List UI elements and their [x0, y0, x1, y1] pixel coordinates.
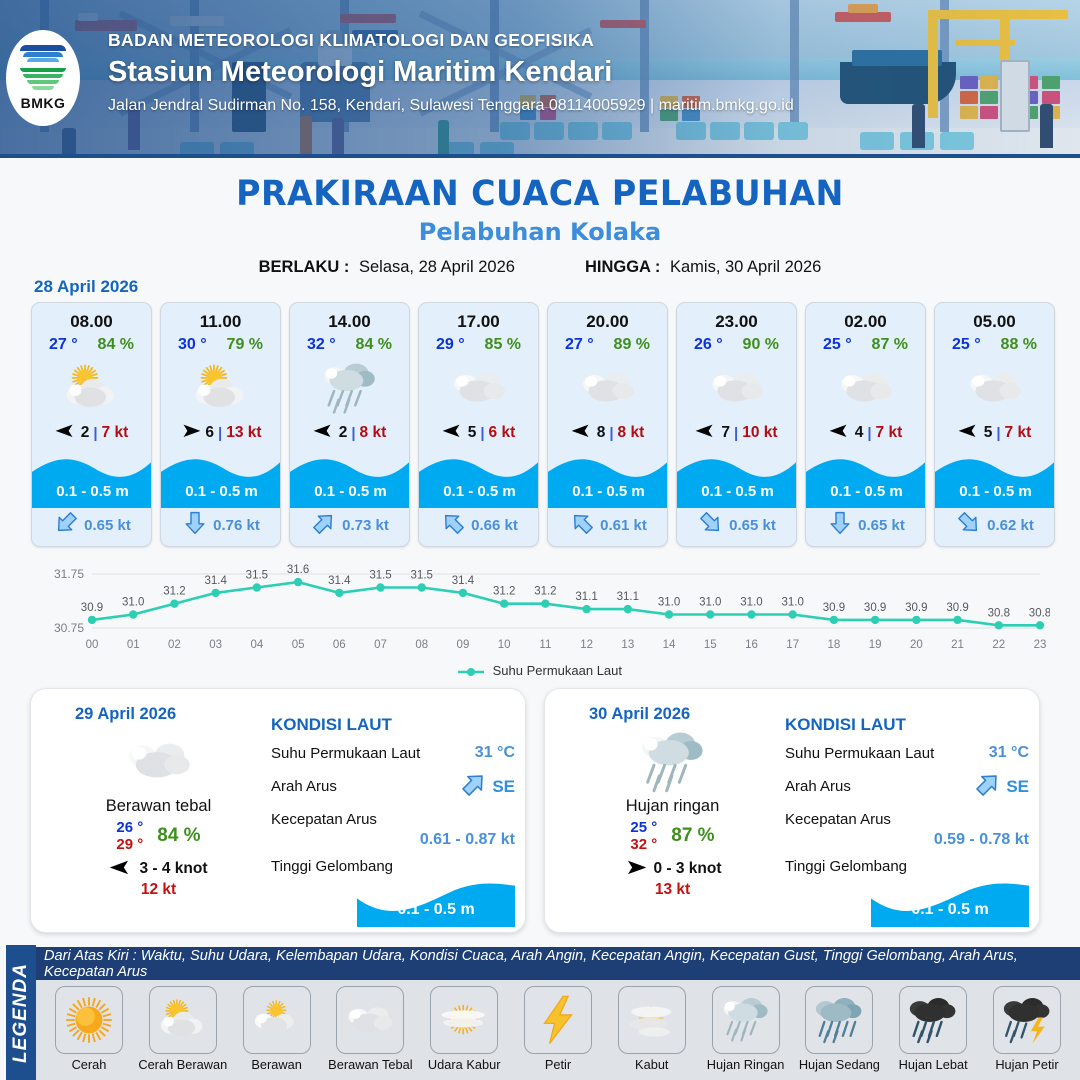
current-speed-label: Kecepatan Arus	[785, 811, 891, 828]
organization-name: BADAN METEOROLOGI KLIMATOLOGI DAN GEOFIS…	[108, 30, 794, 51]
legend-item-label: Hujan Petir	[982, 1057, 1072, 1072]
card-temp-humidity: 29 ° 85 %	[419, 336, 538, 354]
petir-icon	[524, 986, 592, 1054]
svg-text:31.0: 31.0	[658, 597, 680, 609]
current-direction-arrow-icon	[183, 511, 207, 540]
daily-temps: 26 ° 29 ° 84 %	[51, 819, 266, 854]
chart-legend-label: Suhu Permukaan Laut	[493, 663, 622, 678]
svg-text:22: 22	[992, 639, 1005, 651]
current-direction-row: Arah Arus SE	[785, 771, 1029, 802]
logo-label: BMKG	[21, 95, 66, 111]
wave-height-row: Tinggi Gelombang	[271, 858, 515, 875]
card-wind: 8 | 8 kt	[548, 424, 667, 443]
current-direction-arrow-icon	[461, 771, 487, 802]
berawan-tebal-icon	[51, 731, 266, 793]
header-text-block: BADAN METEOROLOGI KLIMATOLOGI DAN GEOFIS…	[108, 30, 794, 115]
card-temperature: 32 °	[307, 336, 336, 354]
svg-text:31.5: 31.5	[411, 570, 433, 582]
valid-from-label: BERLAKU :	[259, 258, 350, 276]
card-temp-humidity: 27 ° 89 %	[548, 336, 667, 354]
valid-from-value: Selasa, 28 April 2026	[359, 258, 515, 276]
current-direction-arrow-icon	[975, 771, 1001, 802]
card-gust-speed: 10 kt	[742, 424, 777, 442]
sea-condition-title: KONDISI LAUT	[785, 715, 1029, 735]
card-current: 0.65 kt	[677, 511, 797, 540]
svg-text:21: 21	[951, 639, 964, 651]
svg-text:30.9: 30.9	[81, 602, 103, 614]
daily-left-block: Berawan tebal 26 ° 29 ° 84 % 3 - 4 knot …	[51, 731, 266, 899]
sst-row: Suhu Permukaan Laut 31 °C	[271, 744, 515, 762]
svg-text:16: 16	[745, 639, 758, 651]
card-humidity: 87 %	[872, 336, 908, 354]
berawan-tebal-icon	[806, 356, 925, 420]
forecast-card: 20.00 27 ° 89 % 8 | 8 kt 0.1 - 0.5 m 0.6…	[547, 302, 668, 547]
card-temperature: 26 °	[694, 336, 723, 354]
svg-text:31.2: 31.2	[534, 586, 556, 598]
legend-item-label: Hujan Lebat	[888, 1057, 978, 1072]
card-wind-direction: 5	[468, 424, 477, 442]
sst-label: Suhu Permukaan Laut	[271, 745, 420, 762]
port-name: Pelabuhan Kolaka	[0, 218, 1080, 246]
svg-text:30.9: 30.9	[823, 602, 845, 614]
current-direction-arrow-icon	[312, 511, 336, 540]
sst-chart-svg: 31.7530.7530.90031.00131.20231.40331.504…	[30, 558, 1050, 663]
svg-text:31.1: 31.1	[617, 591, 639, 603]
daily-condition: Hujan ringan	[565, 797, 780, 816]
wind-direction-arrow-icon	[179, 424, 201, 443]
legend-item: Hujan Petir	[982, 986, 1072, 1072]
current-speed-label: Kecepatan Arus	[271, 811, 377, 828]
forecast-card-list: 08.00 27 ° 84 % 2 | 7 kt 0.1 - 0.5 m 0.6…	[31, 302, 1055, 547]
daily-temp-col: 26 ° 29 °	[116, 819, 143, 854]
sst-value: 31 °C	[475, 744, 515, 762]
card-separator: |	[480, 425, 484, 442]
card-current-speed: 0.65 kt	[729, 517, 776, 534]
legend-section: LEGENDA Dari Atas Kiri : Waktu, Suhu Uda…	[0, 945, 1080, 1080]
hujan-ringan-icon	[565, 731, 780, 793]
svg-text:31.0: 31.0	[740, 597, 762, 609]
card-current: 0.66 kt	[419, 511, 539, 540]
berawan-tebal-icon	[548, 356, 667, 420]
card-wave-height: 0.1 - 0.5 m	[32, 483, 152, 500]
station-name: Stasiun Meteorologi Maritim Kendari	[108, 56, 794, 89]
svg-text:14: 14	[663, 639, 676, 651]
card-wave-height: 0.1 - 0.5 m	[935, 483, 1055, 500]
svg-text:30.75: 30.75	[54, 621, 84, 635]
daily-summary-card: 29 April 2026 Berawan tebal 26 ° 29 ° 84…	[30, 688, 526, 933]
svg-text:10: 10	[498, 639, 511, 651]
svg-text:04: 04	[250, 639, 263, 651]
legend-item: Cerah	[44, 986, 134, 1072]
card-temperature: 27 °	[565, 336, 594, 354]
svg-text:31.75: 31.75	[54, 567, 84, 581]
daily-sea-block: KONDISI LAUT Suhu Permukaan Laut 31 °C A…	[785, 715, 1029, 927]
current-speed-row: Kecepatan Arus	[785, 811, 1029, 828]
wind-direction-arrow-icon	[958, 424, 980, 443]
svg-text:31.4: 31.4	[452, 575, 475, 587]
card-wind-direction: 7	[721, 424, 730, 442]
svg-text:31.5: 31.5	[246, 570, 268, 582]
current-speed-row: Kecepatan Arus	[271, 811, 515, 828]
legend-item: Berawan Tebal	[325, 986, 415, 1072]
current-direction-arrow-icon	[441, 511, 465, 540]
legend-item-label: Udara Kabur	[419, 1057, 509, 1072]
card-temperature: 29 °	[436, 336, 465, 354]
card-temp-humidity: 32 ° 84 %	[290, 336, 409, 354]
legend-item-label: Petir	[513, 1057, 603, 1072]
valid-to-label: HINGGA :	[585, 258, 660, 276]
wind-direction-arrow-icon	[695, 424, 717, 443]
card-time: 02.00	[806, 312, 925, 332]
card-separator: |	[609, 425, 613, 442]
card-temp-humidity: 30 ° 79 %	[161, 336, 280, 354]
chart-legend: Suhu Permukaan Laut	[30, 663, 1050, 678]
svg-text:09: 09	[457, 639, 470, 651]
daily-wave-height: 0.1 - 0.5 m	[871, 901, 1029, 919]
validity-row: BERLAKU : Selasa, 28 April 2026 HINGGA :…	[0, 258, 1080, 277]
berawan-tebal-icon	[677, 356, 796, 420]
card-humidity: 85 %	[485, 336, 521, 354]
svg-text:31.0: 31.0	[782, 597, 804, 609]
berawan-tebal-icon	[935, 356, 1054, 420]
card-time: 17.00	[419, 312, 538, 332]
card-wind: 5 | 7 kt	[935, 424, 1054, 443]
svg-text:19: 19	[869, 639, 882, 651]
card-current-speed: 0.62 kt	[987, 517, 1034, 534]
card-time: 11.00	[161, 312, 280, 332]
svg-text:13: 13	[621, 639, 634, 651]
berawan-icon	[243, 986, 311, 1054]
hujan-lebat-icon	[899, 986, 967, 1054]
daily-date: 30 April 2026	[589, 705, 690, 724]
legend-item-list: Cerah Cerah Berawan Berawan Berawan Teba…	[36, 980, 1080, 1080]
logo-wave-icon	[20, 68, 66, 92]
card-wind: 2 | 8 kt	[290, 424, 409, 443]
card-time: 05.00	[935, 312, 1054, 332]
hujan-ringan-icon	[712, 986, 780, 1054]
svg-text:31.6: 31.6	[287, 564, 309, 576]
legend-item: Hujan Ringan	[701, 986, 791, 1072]
daily-wind-speed: 3 - 4 knot	[139, 860, 207, 878]
sst-label: Suhu Permukaan Laut	[785, 745, 934, 762]
card-separator: |	[996, 425, 1000, 442]
card-separator: |	[93, 425, 97, 442]
svg-text:00: 00	[86, 639, 99, 651]
berawan-tebal-icon	[419, 356, 538, 420]
page-title: PRAKIRAAN CUACA PELABUHAN	[27, 174, 1053, 214]
card-current-speed: 0.76 kt	[213, 517, 260, 534]
wind-direction-arrow-icon	[829, 424, 851, 443]
forecast-card: 23.00 26 ° 90 % 7 | 10 kt 0.1 - 0.5 m 0.…	[676, 302, 797, 547]
daily-humidity: 84 %	[157, 825, 200, 847]
card-time: 20.00	[548, 312, 667, 332]
wind-direction-arrow-icon	[109, 860, 133, 880]
wind-direction-arrow-icon	[313, 424, 335, 443]
legend-item-label: Cerah	[44, 1057, 134, 1072]
valid-to-value: Kamis, 30 April 2026	[670, 258, 821, 276]
card-temperature: 27 °	[49, 336, 78, 354]
daily-wind: 3 - 4 knot	[51, 860, 266, 880]
daily-summary-card: 30 April 2026 Hujan ringan 25 ° 32 ° 87 …	[544, 688, 1040, 933]
svg-text:30.8: 30.8	[988, 607, 1010, 619]
card-humidity: 84 %	[98, 336, 134, 354]
card-humidity: 88 %	[1001, 336, 1037, 354]
card-current-speed: 0.66 kt	[471, 517, 518, 534]
card-current-speed: 0.65 kt	[84, 517, 131, 534]
card-wind: 5 | 6 kt	[419, 424, 538, 443]
udara-kabur-icon	[430, 986, 498, 1054]
current-direction-label: Arah Arus	[271, 778, 337, 795]
daily-date: 29 April 2026	[75, 705, 176, 724]
card-current: 0.65 kt	[32, 511, 152, 540]
card-humidity: 89 %	[614, 336, 650, 354]
current-direction-arrow-icon	[570, 511, 594, 540]
card-gust-speed: 8 kt	[360, 424, 387, 442]
current-direction-label: Arah Arus	[785, 778, 851, 795]
station-address: Jalan Jendral Sudirman No. 158, Kendari,…	[108, 97, 794, 115]
valid-to: HINGGA : Kamis, 30 April 2026	[585, 258, 821, 277]
card-wave-height: 0.1 - 0.5 m	[806, 483, 926, 500]
card-gust-speed: 6 kt	[489, 424, 516, 442]
card-wave-height: 0.1 - 0.5 m	[548, 483, 668, 500]
card-temperature: 30 °	[178, 336, 207, 354]
card-wind-direction: 2	[81, 424, 90, 442]
wind-direction-arrow-icon	[623, 860, 647, 880]
card-temp-humidity: 26 ° 90 %	[677, 336, 796, 354]
wave-graphic-icon: 0.1 - 0.5 m	[271, 879, 515, 927]
legend-item-label: Berawan Tebal	[325, 1057, 415, 1072]
bmkg-logo: BMKG	[6, 30, 80, 126]
card-wind: 2 | 7 kt	[32, 424, 151, 443]
forecast-date-label: 28 April 2026	[34, 277, 138, 297]
card-time: 08.00	[32, 312, 151, 332]
kabut-icon	[618, 986, 686, 1054]
daily-wind: 0 - 3 knot	[565, 860, 780, 880]
svg-text:31.1: 31.1	[575, 591, 597, 603]
card-wave-height: 0.1 - 0.5 m	[677, 483, 797, 500]
current-direction-arrow-icon	[828, 511, 852, 540]
forecast-card: 02.00 25 ° 87 % 4 | 7 kt 0.1 - 0.5 m 0.6…	[805, 302, 926, 547]
page-header: BMKG BADAN METEOROLOGI KLIMATOLOGI DAN G…	[0, 0, 1080, 158]
daily-wind-speed: 0 - 3 knot	[653, 860, 721, 878]
card-current: 0.61 kt	[548, 511, 668, 540]
legend-item: Petir	[513, 986, 603, 1072]
svg-text:31.0: 31.0	[699, 597, 721, 609]
legend-item-label: Hujan Ringan	[701, 1057, 791, 1072]
daily-humidity: 87 %	[671, 825, 714, 847]
card-wind-direction: 5	[984, 424, 993, 442]
current-direction-arrow-icon	[957, 511, 981, 540]
svg-text:31.4: 31.4	[204, 575, 227, 587]
daily-temp-col: 25 ° 32 °	[630, 819, 657, 854]
card-wind: 7 | 10 kt	[677, 424, 796, 443]
legend-caption: Dari Atas Kiri : Waktu, Suhu Udara, Kele…	[36, 947, 1080, 980]
card-wave-height: 0.1 - 0.5 m	[290, 483, 410, 500]
title-block: PRAKIRAAN CUACA PELABUHAN Pelabuhan Kola…	[0, 174, 1080, 277]
card-humidity: 90 %	[743, 336, 779, 354]
card-time: 23.00	[677, 312, 796, 332]
svg-text:05: 05	[292, 639, 305, 651]
svg-text:23: 23	[1034, 639, 1047, 651]
svg-text:30.9: 30.9	[905, 602, 927, 614]
svg-text:20: 20	[910, 639, 923, 651]
daily-temp-min: 25 °	[630, 819, 657, 836]
daily-sea-block: KONDISI LAUT Suhu Permukaan Laut 31 °C A…	[271, 715, 515, 927]
sea-condition-title: KONDISI LAUT	[271, 715, 515, 735]
current-direction-arrow-icon	[699, 511, 723, 540]
hujan-petir-icon	[993, 986, 1061, 1054]
daily-temp-max: 32 °	[630, 836, 657, 853]
forecast-card: 05.00 25 ° 88 % 5 | 7 kt 0.1 - 0.5 m 0.6…	[934, 302, 1055, 547]
card-wind-direction: 6	[205, 424, 214, 442]
card-current: 0.76 kt	[161, 511, 281, 540]
legend-item: Kabut	[607, 986, 697, 1072]
current-direction-value: SE	[461, 771, 515, 802]
daily-summary-list: 29 April 2026 Berawan tebal 26 ° 29 ° 84…	[30, 688, 1040, 933]
berawan-tebal-icon	[336, 986, 404, 1054]
svg-text:08: 08	[415, 639, 428, 651]
svg-text:30.9: 30.9	[864, 602, 886, 614]
svg-text:11: 11	[539, 639, 551, 651]
sst-row: Suhu Permukaan Laut 31 °C	[785, 744, 1029, 762]
svg-text:01: 01	[127, 639, 140, 651]
card-current-speed: 0.65 kt	[858, 517, 905, 534]
forecast-card: 08.00 27 ° 84 % 2 | 7 kt 0.1 - 0.5 m 0.6…	[31, 302, 152, 547]
sst-value: 31 °C	[989, 744, 1029, 762]
legend-item-label: Hujan Sedang	[794, 1057, 884, 1072]
svg-text:31.2: 31.2	[163, 586, 185, 598]
sst-chart: 31.7530.7530.90031.00131.20231.40331.504…	[30, 558, 1050, 688]
wave-height-label: Tinggi Gelombang	[271, 858, 393, 875]
card-temp-humidity: 25 ° 88 %	[935, 336, 1054, 354]
card-temperature: 25 °	[823, 336, 852, 354]
cerah-berawan-icon	[161, 356, 280, 420]
legend-item: Udara Kabur	[419, 986, 509, 1072]
card-separator: |	[867, 425, 871, 442]
svg-text:31.2: 31.2	[493, 586, 515, 598]
card-wave-height: 0.1 - 0.5 m	[161, 483, 281, 500]
svg-text:15: 15	[704, 639, 717, 651]
svg-text:06: 06	[333, 639, 346, 651]
forecast-card: 17.00 29 ° 85 % 5 | 6 kt 0.1 - 0.5 m 0.6…	[418, 302, 539, 547]
card-gust-speed: 7 kt	[876, 424, 903, 442]
legend-item: Hujan Lebat	[888, 986, 978, 1072]
daily-wave-height: 0.1 - 0.5 m	[357, 901, 515, 919]
wave-height-label: Tinggi Gelombang	[785, 858, 907, 875]
card-current: 0.65 kt	[806, 511, 926, 540]
svg-text:30.8: 30.8	[1029, 607, 1050, 619]
cerah-berawan-icon	[149, 986, 217, 1054]
card-current-speed: 0.73 kt	[342, 517, 389, 534]
card-temperature: 25 °	[952, 336, 981, 354]
card-time: 14.00	[290, 312, 409, 332]
daily-temp-max: 29 °	[116, 836, 143, 853]
card-temp-humidity: 27 ° 84 %	[32, 336, 151, 354]
card-gust-speed: 7 kt	[1005, 424, 1032, 442]
wave-graphic-icon: 0.1 - 0.5 m	[785, 879, 1029, 927]
daily-left-block: Hujan ringan 25 ° 32 ° 87 % 0 - 3 knot 1…	[565, 731, 780, 899]
forecast-card: 11.00 30 ° 79 % 6 | 13 kt 0.1 - 0.5 m 0.…	[160, 302, 281, 547]
card-humidity: 79 %	[227, 336, 263, 354]
svg-text:30.9: 30.9	[946, 602, 968, 614]
hujan-ringan-icon	[290, 356, 409, 420]
legend-item-label: Cerah Berawan	[138, 1057, 228, 1072]
card-wind: 6 | 13 kt	[161, 424, 280, 443]
legend-item-label: Kabut	[607, 1057, 697, 1072]
svg-text:17: 17	[786, 639, 799, 651]
legend-item-label: Berawan	[232, 1057, 322, 1072]
legend-item: Hujan Sedang	[794, 986, 884, 1072]
card-humidity: 84 %	[356, 336, 392, 354]
current-direction-row: Arah Arus SE	[271, 771, 515, 802]
card-wave-height: 0.1 - 0.5 m	[419, 483, 539, 500]
card-current: 0.73 kt	[290, 511, 410, 540]
current-speed-value: 0.59 - 0.78 kt	[785, 831, 1029, 849]
card-wind: 4 | 7 kt	[806, 424, 925, 443]
card-gust-speed: 7 kt	[102, 424, 129, 442]
svg-text:18: 18	[828, 639, 841, 651]
daily-temp-min: 26 °	[116, 819, 143, 836]
current-direction-value: SE	[975, 771, 1029, 802]
card-wind-direction: 2	[339, 424, 348, 442]
legend-side-label: LEGENDA	[6, 945, 36, 1080]
card-current-speed: 0.61 kt	[600, 517, 647, 534]
svg-text:07: 07	[374, 639, 387, 651]
forecast-card: 14.00 32 ° 84 % 2 | 8 kt 0.1 - 0.5 m 0.7…	[289, 302, 410, 547]
legend-item: Berawan	[232, 986, 322, 1072]
svg-text:31.5: 31.5	[369, 570, 391, 582]
cerah-berawan-icon	[32, 356, 151, 420]
legend-item: Cerah Berawan	[138, 986, 228, 1072]
svg-text:12: 12	[580, 639, 593, 651]
card-temp-humidity: 25 ° 87 %	[806, 336, 925, 354]
svg-text:02: 02	[168, 639, 181, 651]
card-current: 0.62 kt	[935, 511, 1055, 540]
daily-gust-speed: 12 kt	[51, 881, 266, 899]
wind-direction-arrow-icon	[55, 424, 77, 443]
wind-direction-arrow-icon	[442, 424, 464, 443]
current-speed-value: 0.61 - 0.87 kt	[271, 831, 515, 849]
card-separator: |	[218, 425, 222, 442]
card-wind-direction: 8	[597, 424, 606, 442]
hujan-sedang-icon	[805, 986, 873, 1054]
legend-side-text: LEGENDA	[10, 963, 32, 1063]
valid-from: BERLAKU : Selasa, 28 April 2026	[259, 258, 515, 277]
current-direction-arrow-icon	[54, 511, 78, 540]
svg-text:03: 03	[209, 639, 222, 651]
cerah-icon	[55, 986, 123, 1054]
card-gust-speed: 13 kt	[226, 424, 261, 442]
svg-text:31.0: 31.0	[122, 597, 144, 609]
daily-condition: Berawan tebal	[51, 797, 266, 816]
logo-arc-icon	[20, 45, 66, 65]
card-wind-direction: 4	[855, 424, 864, 442]
daily-temps: 25 ° 32 ° 87 %	[565, 819, 780, 854]
card-separator: |	[351, 425, 355, 442]
svg-text:31.4: 31.4	[328, 575, 351, 587]
card-gust-speed: 8 kt	[618, 424, 645, 442]
daily-gust-speed: 13 kt	[565, 881, 780, 899]
chart-legend-marker-icon	[458, 666, 484, 678]
card-separator: |	[734, 425, 738, 442]
wave-height-row: Tinggi Gelombang	[785, 858, 1029, 875]
wind-direction-arrow-icon	[571, 424, 593, 443]
